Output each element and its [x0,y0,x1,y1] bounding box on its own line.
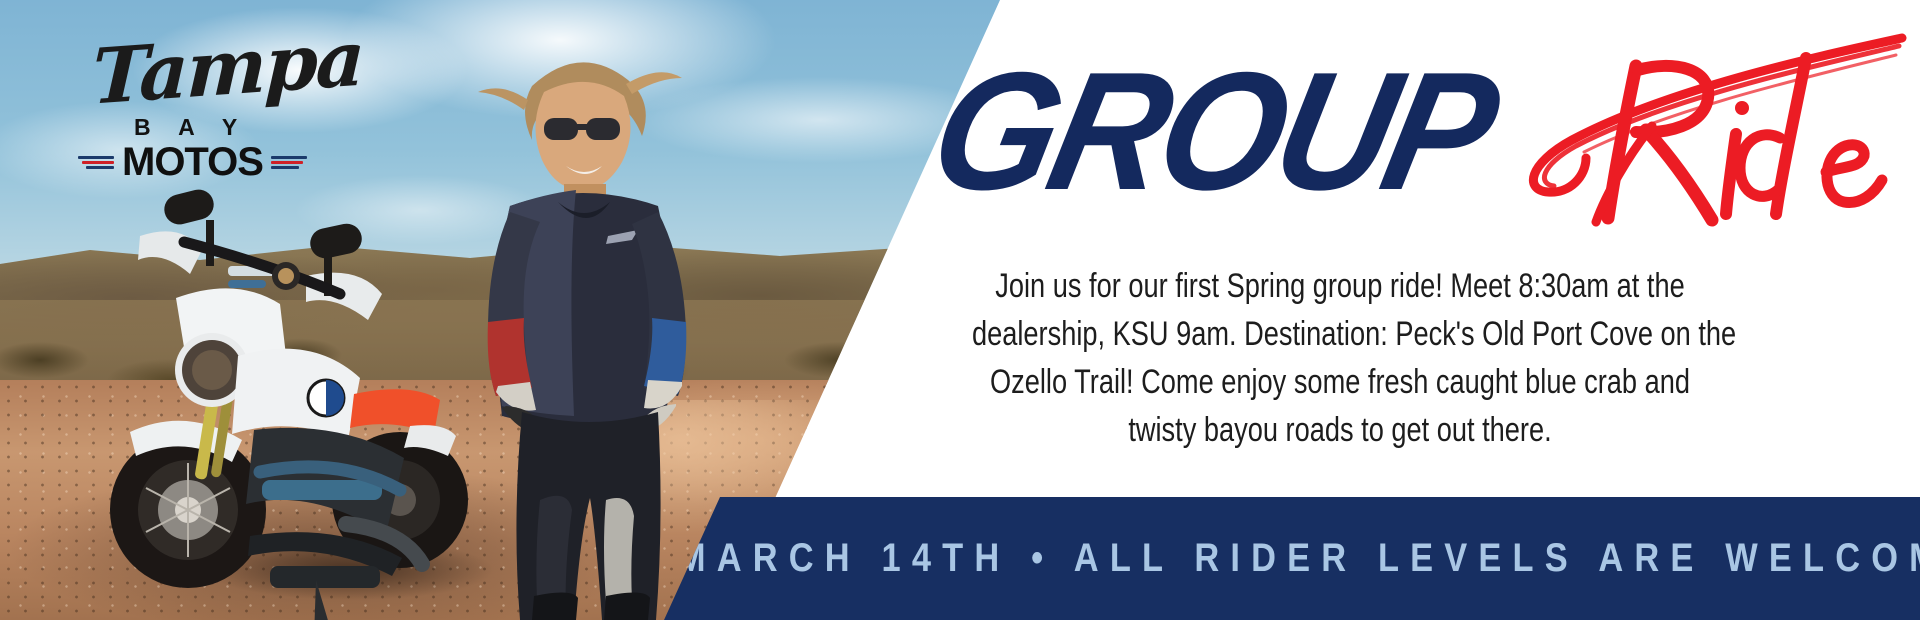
logo-bottom-row: MOTOS [78,140,307,185]
logo-middle-word: B A Y [134,114,248,141]
body-copy: Join us for our first Spring group ride!… [972,262,1708,454]
body-line-3: Ozello Trail! Come enjoy some fresh caug… [972,358,1708,406]
body-line-1: Join us for our first Spring group ride!… [972,262,1708,310]
rider-illustration [440,30,740,620]
headline-script-ride [1440,22,1910,227]
racing-stripes-left-icon [78,156,114,169]
body-line-2: dealership, KSU 9am. Destination: Peck's… [972,310,1708,358]
logo-script-word: Tampa [91,20,364,115]
logo-bottom-word: MOTOS [122,140,263,185]
footer-bar-text: MARCH 14TH • ALL RIDER LEVELS ARE WELCOM… [823,497,1838,620]
headline-primary: GROUP [920,52,1505,212]
promo-banner: Tampa B A Y MOTOS GROUP [0,0,1920,620]
body-line-4: twisty bayou roads to get out there. [972,406,1708,454]
racing-stripes-right-icon [271,156,307,169]
brand-logo[interactable]: Tampa B A Y MOTOS [78,30,348,175]
headline-block: GROUP [850,22,1920,232]
